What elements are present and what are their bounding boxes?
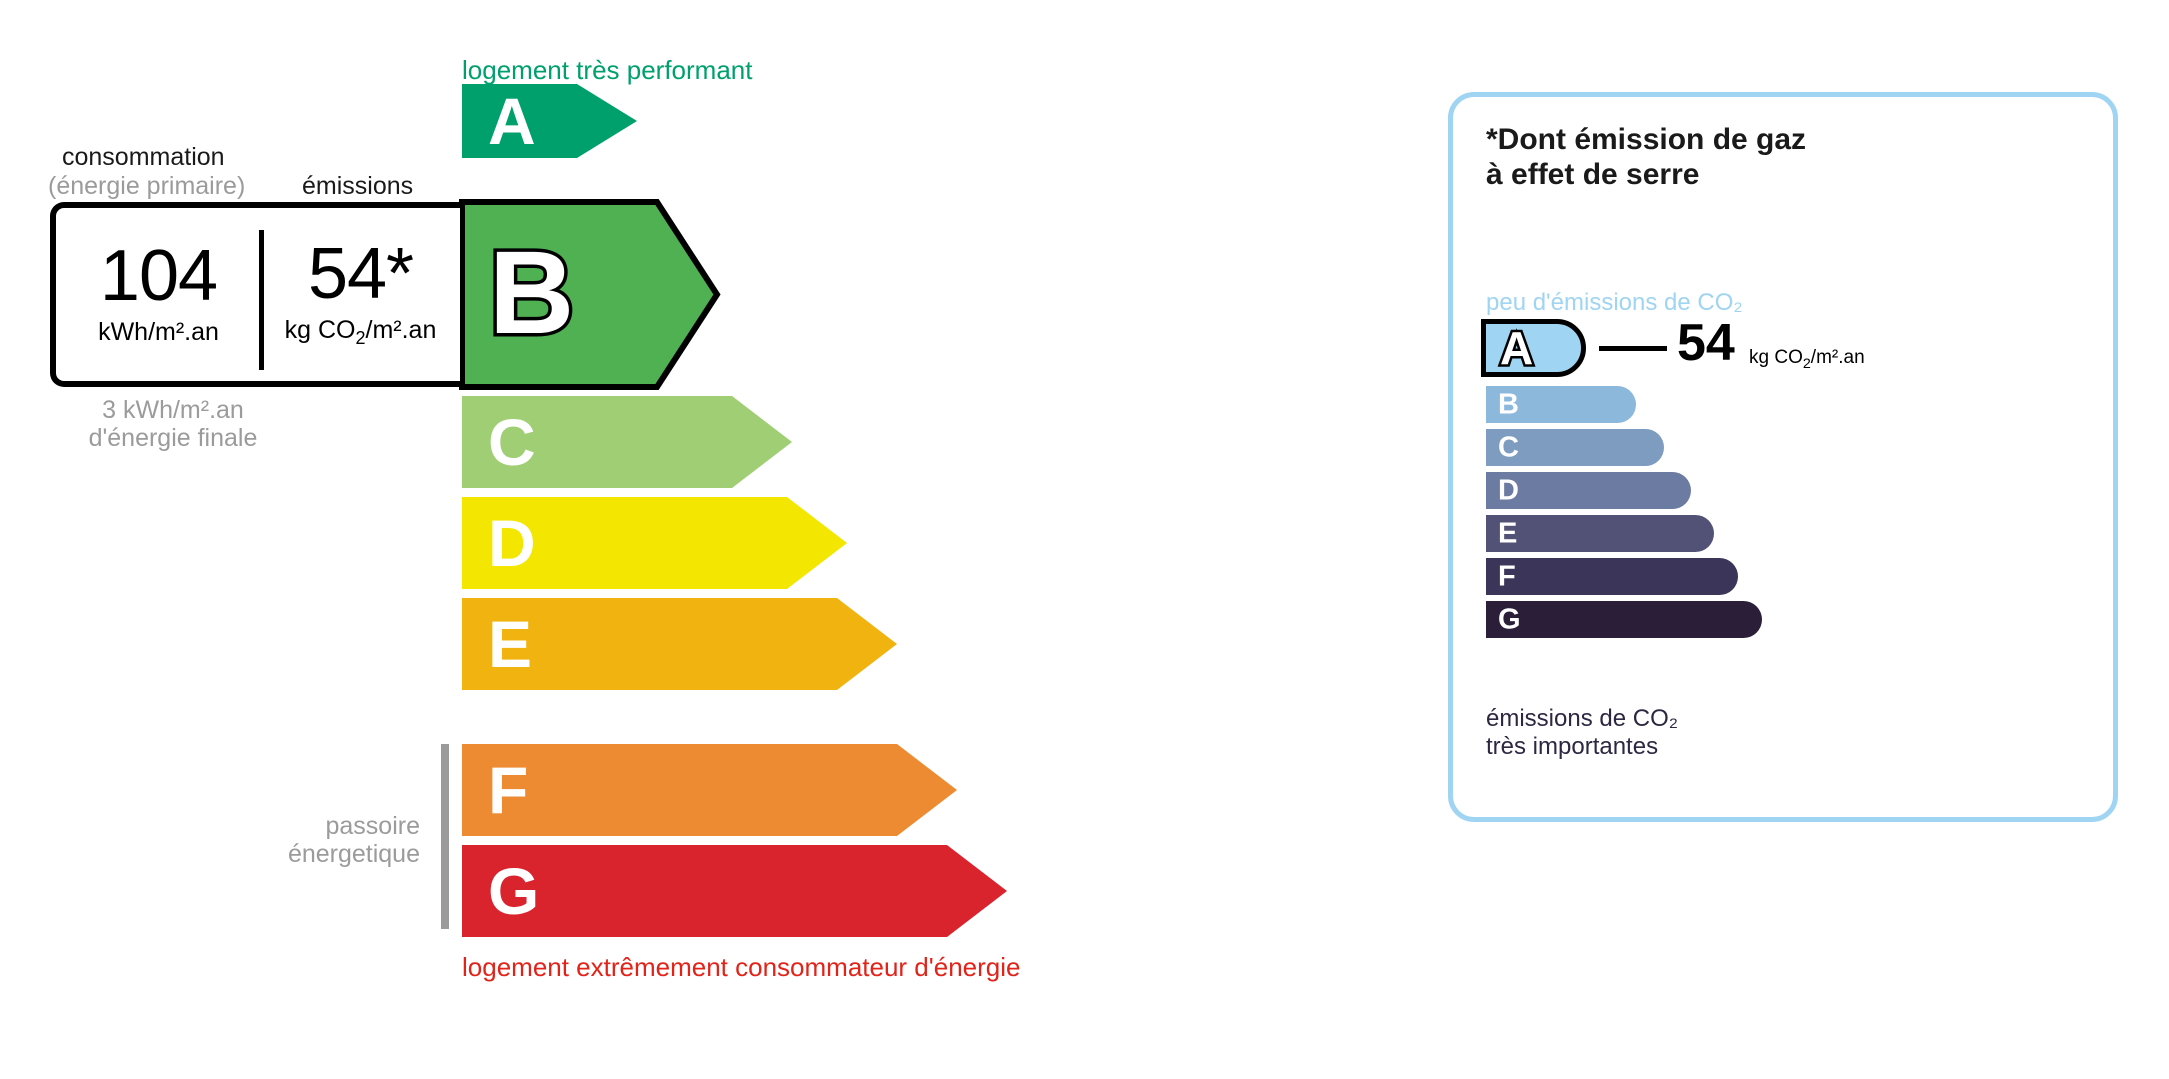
energy-class-letter-C: C <box>488 405 536 479</box>
ges-class-bar-F: F <box>1486 558 1738 595</box>
ges-class-letter-C: C <box>1498 433 1519 462</box>
passoire-label: passoire énergetique <box>240 812 420 868</box>
consumption-value: 104 <box>100 242 217 310</box>
ges-selected-letter: A <box>1500 325 1533 371</box>
energy-class-letter-F: F <box>488 753 528 827</box>
energy-class-letter-D: D <box>488 506 536 580</box>
ges-top-caption: peu d'émissions de CO₂ <box>1486 289 1743 317</box>
emission-cell: 54* kg CO2/m².an <box>261 208 460 381</box>
emission-unit: kg CO2/m².an <box>285 316 437 349</box>
ges-selected-shape: A <box>1481 319 1586 377</box>
ges-class-bar-B: B <box>1486 386 1636 423</box>
ges-class-row-C[interactable]: C <box>1486 429 1664 466</box>
final-energy-note: 3 kWh/m².an d'énergie finale <box>58 396 288 452</box>
ges-class-bar-D: D <box>1486 472 1691 509</box>
ges-bottom-caption: émissions de CO₂ très importantes <box>1486 705 1678 760</box>
energy-class-letter-G: G <box>488 854 539 928</box>
ges-class-letter-D: D <box>1498 476 1519 505</box>
emission-value: 54* <box>308 240 413 308</box>
dpe-bottom-caption: logement extrêmement consommateur d'éner… <box>462 952 1020 983</box>
ges-class-letter-G: G <box>1498 605 1521 634</box>
energy-class-letter-A: A <box>488 84 536 158</box>
dpe-ges-label: logement très performant consommation (é… <box>0 0 2169 1079</box>
ges-class-row-E[interactable]: E <box>1486 515 1714 552</box>
ges-class-row-F[interactable]: F <box>1486 558 1738 595</box>
dpe-energy-panel: logement très performant consommation (é… <box>0 0 1400 1079</box>
selected-class-letter: B <box>489 234 574 352</box>
ges-value-unit: kg CO2/m².an <box>1749 347 1865 372</box>
ges-class-bar-G: G <box>1486 601 1762 638</box>
ges-class-row-B[interactable]: B <box>1486 386 1636 423</box>
ges-class-letter-E: E <box>1498 519 1517 548</box>
ges-class-row-D[interactable]: D <box>1486 472 1691 509</box>
ges-selected-class-A: A 54 kg CO2/m².an <box>1481 319 1586 377</box>
ges-class-bar-E: E <box>1486 515 1714 552</box>
energy-class-bar-G[interactable] <box>462 845 1007 937</box>
energy-class-bars: ACDEFG <box>0 0 1400 1079</box>
ges-panel: *Dont émission de gaz à effet de serre p… <box>1448 92 2118 822</box>
consumption-unit: kWh/m².an <box>98 318 219 347</box>
ges-class-bar-C: C <box>1486 429 1664 466</box>
selected-class-B: B <box>457 202 807 387</box>
passoire-bracket <box>441 744 449 929</box>
energy-class-bar-F[interactable] <box>462 744 957 836</box>
ges-title: *Dont émission de gaz à effet de serre <box>1486 122 1806 193</box>
ges-class-letter-B: B <box>1498 390 1519 419</box>
energy-class-letter-E: E <box>488 607 532 681</box>
ges-class-letter-F: F <box>1498 562 1516 591</box>
measurement-box: 104 kWh/m².an 54* kg CO2/m².an <box>50 202 460 387</box>
ges-value: 54 <box>1677 317 1735 369</box>
consumption-cell: 104 kWh/m².an <box>56 208 261 381</box>
ges-leader-line <box>1599 346 1667 351</box>
ges-class-row-G[interactable]: G <box>1486 601 1762 638</box>
